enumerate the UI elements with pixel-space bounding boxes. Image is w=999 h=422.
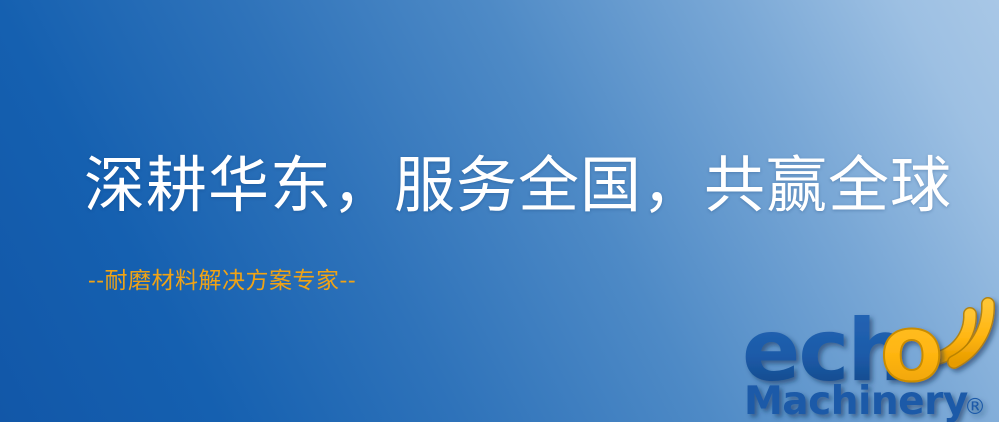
signal-waves-icon (938, 304, 988, 362)
logo-svg: ech o Machinery ® (742, 296, 999, 422)
logo-registered-mark: ® (964, 395, 986, 420)
page-title: 深耕华东，服务全国，共赢全球 (84, 152, 952, 220)
hero-banner: 深耕华东，服务全国，共赢全球 --耐磨材料解决方案专家-- (0, 0, 999, 422)
company-logo[interactable]: ech o Machinery ® (742, 296, 999, 422)
page-subtitle: --耐磨材料解决方案专家-- (88, 268, 356, 296)
logo-tagline: Machinery (744, 379, 968, 422)
